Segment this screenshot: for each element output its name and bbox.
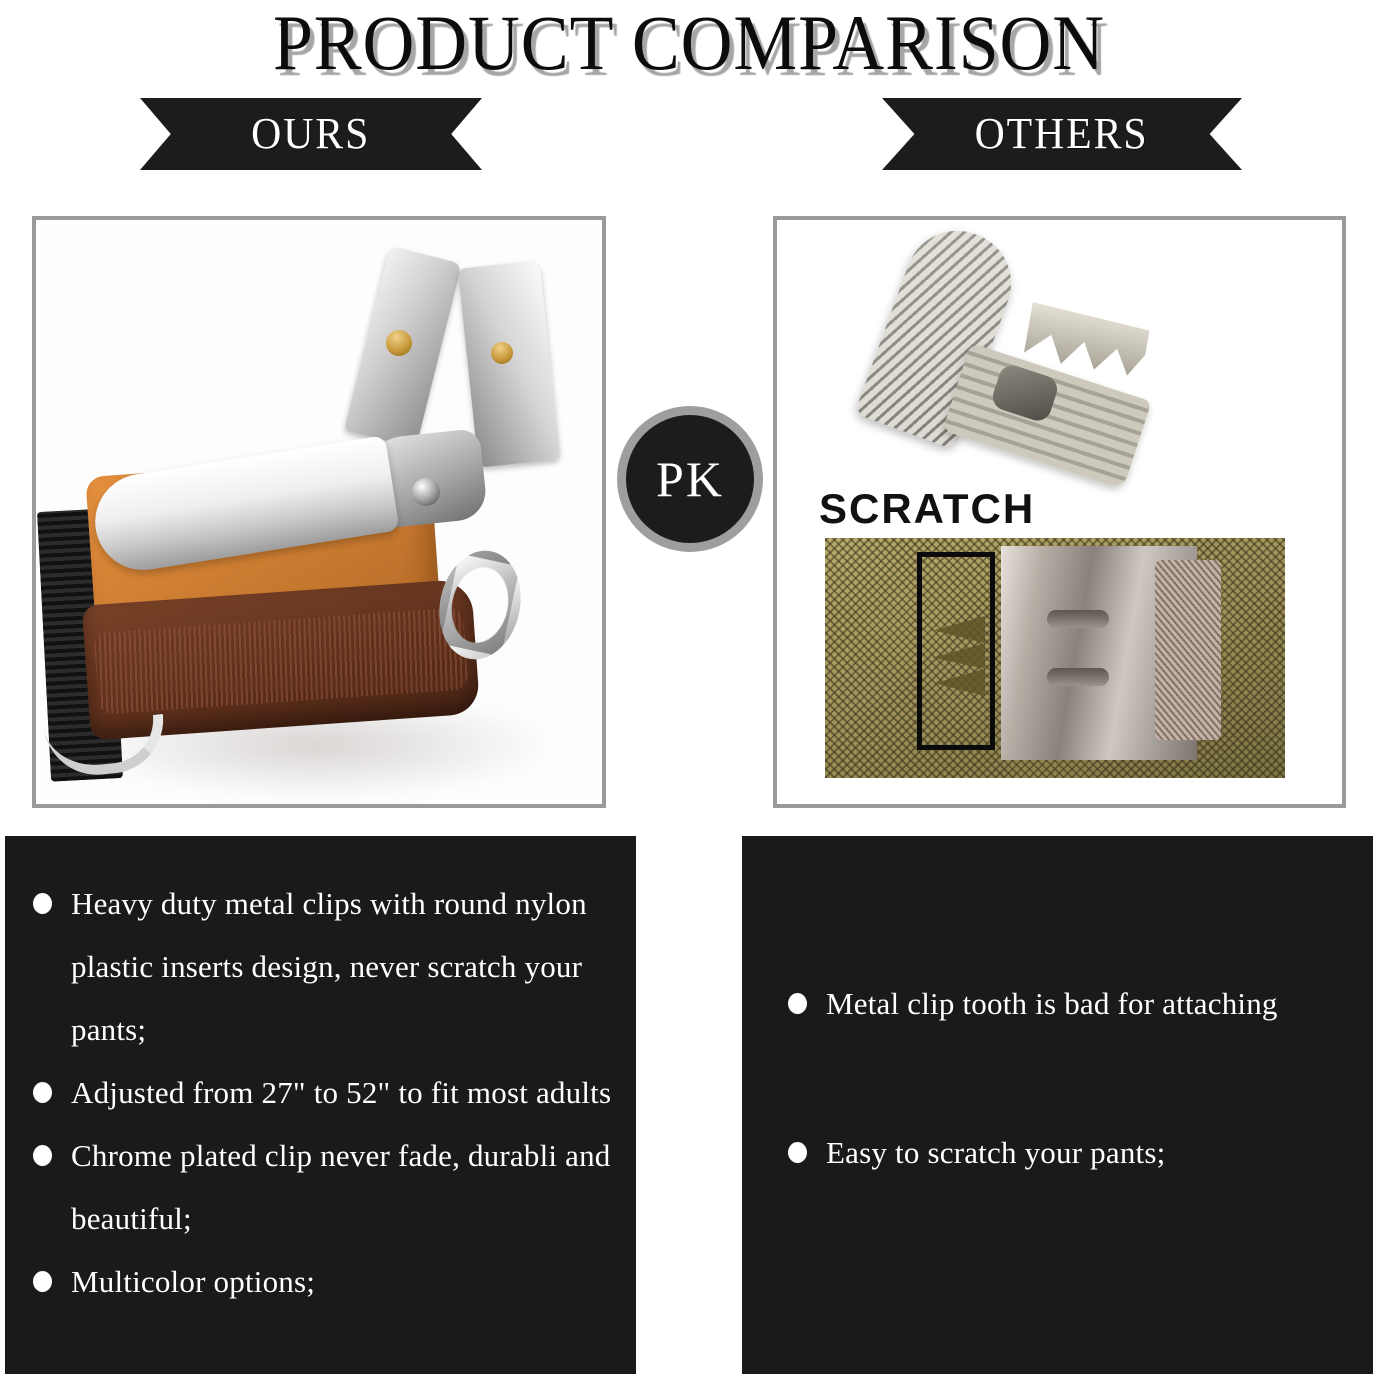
list-item-label: Adjusted from 27" to 52" to fit most adu… [71, 1061, 614, 1124]
fabric-metal-slot-secondary [1047, 668, 1109, 686]
list-item-label: Metal clip tooth is bad for attaching [826, 972, 1351, 1035]
banner-others: OTHERS [882, 98, 1242, 170]
list-item-label: Multicolor options; [71, 1250, 614, 1313]
toothed-clip-image [777, 220, 1342, 520]
list-item: Adjusted from 27" to 52" to fit most adu… [33, 1061, 614, 1124]
fabric-metal-slot [1047, 610, 1109, 628]
list-item: Multicolor options; [33, 1250, 614, 1313]
pk-badge: PK [617, 406, 763, 552]
list-item-label: Chrome plated clip never fade, durabli a… [71, 1124, 614, 1250]
others-clip-photo: SCRATCH [777, 220, 1342, 804]
bullet-dot-icon [788, 1142, 807, 1163]
banner-others-label: OTHERS [975, 112, 1149, 156]
scratch-label: SCRATCH [819, 488, 1035, 530]
product-photo-others: SCRATCH [773, 216, 1346, 808]
scratched-fabric-image [825, 538, 1285, 778]
features-list-others: Metal clip tooth is bad for attaching Ea… [742, 972, 1373, 1270]
list-item-label: Heavy duty metal clips with round nylon … [71, 872, 614, 1061]
scratch-highlight-box [917, 552, 995, 750]
fabric-braided-strap [1155, 560, 1221, 740]
page-title: PRODUCT COMPARISON [55, 2, 1323, 84]
list-item: Metal clip tooth is bad for attaching [788, 972, 1351, 1035]
product-photo-ours [32, 216, 606, 808]
list-item: Heavy duty metal clips with round nylon … [33, 872, 614, 1061]
list-item-label: Easy to scratch your pants; [826, 1121, 1351, 1184]
list-item: Chrome plated clip never fade, durabli a… [33, 1124, 614, 1250]
bullet-dot-icon [33, 1145, 52, 1166]
banner-ours-label: OURS [251, 112, 370, 156]
bullet-dot-icon [33, 1271, 52, 1292]
hinge-pin-icon [412, 478, 440, 506]
features-panel-others: Metal clip tooth is bad for attaching Ea… [742, 836, 1373, 1374]
bullet-dot-icon [33, 893, 52, 914]
bullet-dot-icon [33, 1082, 52, 1103]
banner-ours: OURS [140, 98, 482, 170]
ours-clip-photo [36, 220, 602, 804]
pk-badge-label: PK [656, 454, 724, 504]
bullet-dot-icon [788, 993, 807, 1014]
features-panel-ours: Heavy duty metal clips with round nylon … [5, 836, 636, 1374]
features-list-ours: Heavy duty metal clips with round nylon … [5, 872, 636, 1313]
list-item: Easy to scratch your pants; [788, 1121, 1351, 1184]
